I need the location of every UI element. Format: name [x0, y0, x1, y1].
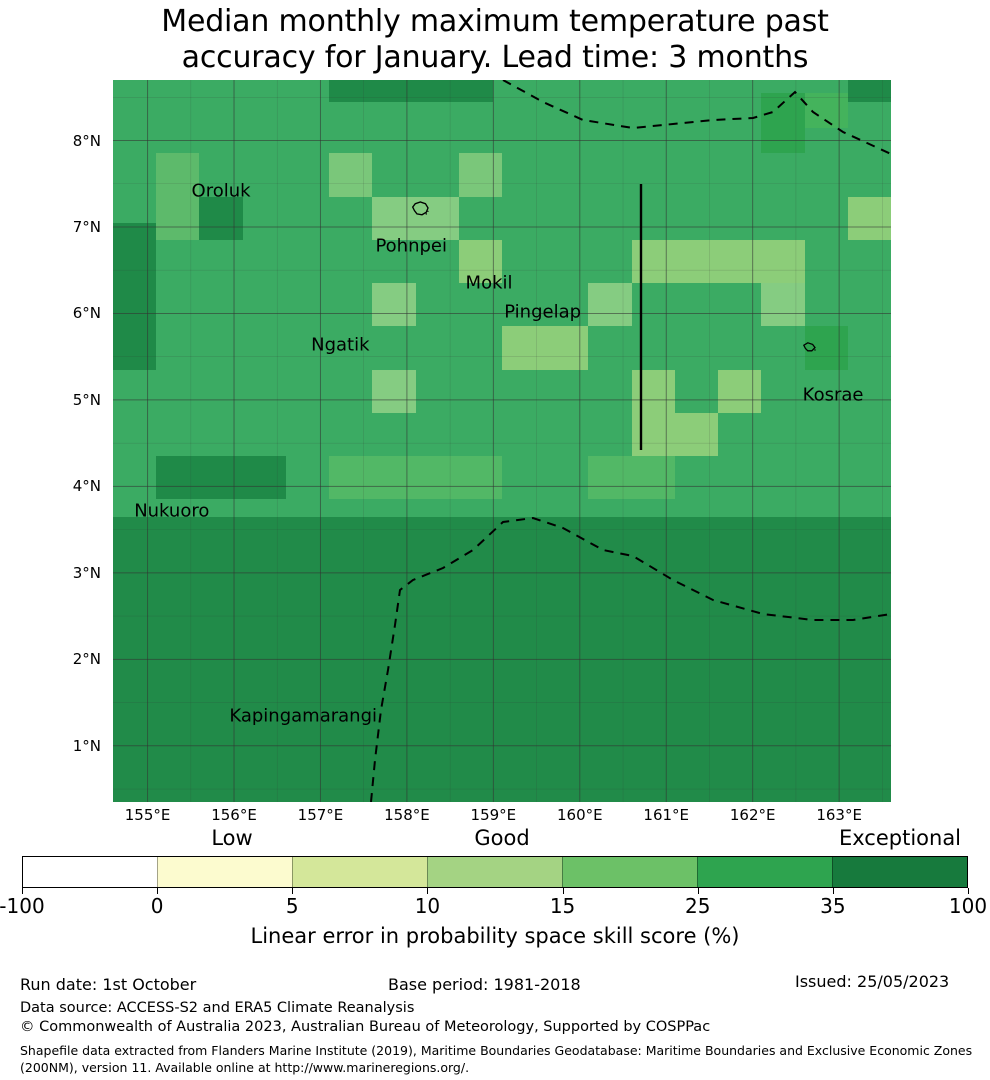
map-plot-area: OrolukPohnpeiMokilPingelapNgatikKosraeNu… [113, 80, 891, 802]
x-tick-label: 156°E [211, 806, 257, 824]
heatmap-cell [675, 413, 718, 456]
heatmap-cell [113, 517, 891, 802]
heatmap-cell [329, 80, 493, 102]
colorbar-tick-label: 10 [415, 894, 440, 918]
y-tick-label: 4°N [73, 477, 101, 495]
colorbar-segment [427, 857, 562, 887]
heatmap-cell [718, 240, 804, 283]
heatmap-cell [459, 153, 502, 196]
page-title: Median monthly maximum temperature past … [0, 4, 990, 76]
colorbar [22, 856, 968, 888]
y-tick-label: 7°N [73, 218, 101, 236]
heatmap-cell [632, 370, 675, 413]
footer-run-date: Run date: 1st October [20, 975, 196, 994]
colorbar-segment [697, 857, 832, 887]
colorbar-axis-title: Linear error in probability space skill … [0, 924, 990, 948]
heatmap-cell [502, 326, 588, 369]
heatmap-cell [632, 240, 718, 283]
colorbar-segment [292, 857, 427, 887]
colorbar-category-low: Low [211, 826, 252, 850]
colorbar-segment [23, 857, 157, 887]
map-label-ngatik: Ngatik [311, 335, 369, 356]
colorbar-tick-label: -100 [0, 894, 45, 918]
colorbar-category-exceptional: Exceptional [839, 826, 961, 850]
footer-shapefile-line-1: Shapefile data extracted from Flanders M… [20, 1043, 972, 1058]
heatmap-cell [588, 283, 631, 326]
heatmap-cell [416, 197, 459, 240]
heatmap-cell [113, 223, 156, 370]
footer-copyright: © Commonwealth of Australia 2023, Austra… [20, 1019, 710, 1035]
heatmap-cell [848, 80, 891, 102]
heatmap-cell [329, 456, 502, 499]
y-tick-label: 3°N [73, 564, 101, 582]
colorbar-tick-label: 5 [286, 894, 299, 918]
heatmap-cell [372, 370, 415, 413]
footer-issued: Issued: 25/05/2023 [795, 972, 949, 991]
colorbar-tick-label: 25 [685, 894, 710, 918]
heatmap-cell [761, 283, 804, 326]
heatmap-cell [761, 93, 804, 154]
footer-data-source: Data source: ACCESS-S2 and ERA5 Climate … [20, 1000, 414, 1016]
heatmap-cell [459, 240, 502, 283]
map-label-kosrae: Kosrae [803, 384, 864, 405]
x-tick-label: 160°E [557, 806, 603, 824]
heatmap-cell [372, 197, 415, 240]
heatmap-cell [156, 197, 199, 240]
x-tick-label: 155°E [125, 806, 171, 824]
colorbar-tick-label: 15 [550, 894, 575, 918]
x-tick-label: 161°E [643, 806, 689, 824]
x-tick-label: 162°E [730, 806, 776, 824]
y-tick-label: 5°N [73, 391, 101, 409]
colorbar-tick-label: 35 [820, 894, 845, 918]
y-tick-label: 8°N [73, 132, 101, 150]
heatmap-cell [805, 93, 848, 128]
map-label-pingelap: Pingelap [504, 301, 581, 322]
y-tick-label: 2°N [73, 650, 101, 668]
footer-shapefile-line-2: (200NM), version 11. Available online at… [20, 1060, 469, 1075]
heatmap-cell [718, 370, 761, 413]
y-tick-label: 6°N [73, 304, 101, 322]
heatmap-cell [588, 456, 674, 499]
heatmap-cell [632, 413, 675, 456]
colorbar-segment [157, 857, 292, 887]
heatmap-cell [329, 153, 372, 196]
title-line-2: accuracy for January. Lead time: 3 month… [0, 40, 990, 76]
x-tick-label: 163°E [816, 806, 862, 824]
y-tick-label: 1°N [73, 737, 101, 755]
x-tick-label: 157°E [298, 806, 344, 824]
x-tick-label: 159°E [471, 806, 517, 824]
colorbar-tick-label: 100 [949, 894, 987, 918]
heatmap-cell [805, 326, 848, 369]
heatmap-cell [199, 197, 242, 240]
heatmap-cell [156, 153, 199, 196]
heatmap-cell [372, 283, 415, 326]
footer-base-period: Base period: 1981-2018 [388, 975, 581, 994]
heatmap-cell [848, 197, 891, 240]
climate-map-figure: Median monthly maximum temperature past … [0, 0, 990, 1080]
heatmap-cell [156, 456, 286, 499]
colorbar-segment [832, 857, 967, 887]
title-line-1: Median monthly maximum temperature past [161, 4, 828, 39]
colorbar-segment [562, 857, 697, 887]
colorbar-tick-label: 0 [151, 894, 164, 918]
x-tick-label: 158°E [384, 806, 430, 824]
colorbar-category-good: Good [474, 826, 529, 850]
